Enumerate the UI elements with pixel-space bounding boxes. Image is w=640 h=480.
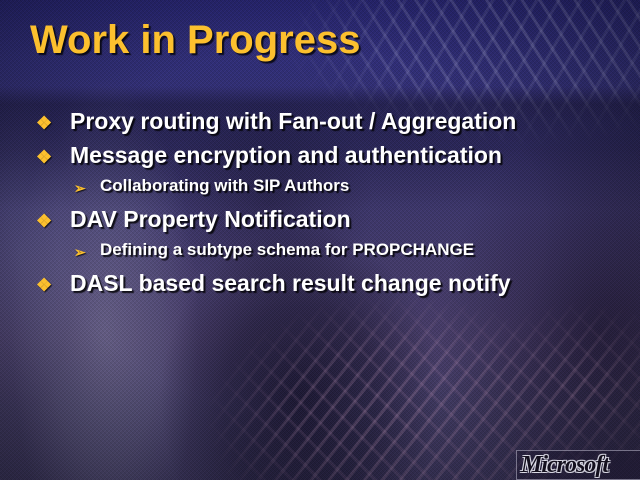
- bullet-diamond-cluster-icon: ❖: [36, 270, 70, 294]
- bullet-text: Message encryption and authentication: [70, 142, 502, 169]
- sub-bullet-text: Defining a subtype schema for PROPCHANGE: [100, 240, 474, 260]
- bullet-text: DASL based search result change notify: [70, 270, 511, 297]
- bullet-item: ❖ DAV Property Notification: [0, 206, 640, 240]
- bullet-diamond-cluster-icon: ❖: [36, 206, 70, 230]
- bullet-item: ❖ Proxy routing with Fan-out / Aggregati…: [0, 108, 640, 142]
- sub-bullet-text: Collaborating with SIP Authors: [100, 176, 349, 196]
- slide-title: Work in Progress: [30, 18, 360, 63]
- sub-bullet-item: ➢ Defining a subtype schema for PROPCHAN…: [0, 240, 640, 270]
- bullet-diamond-cluster-icon: ❖: [36, 142, 70, 166]
- sub-bullet-item: ➢ Collaborating with SIP Authors: [0, 176, 640, 206]
- bullet-arrow-icon: ➢: [74, 176, 100, 195]
- bullet-text: Proxy routing with Fan-out / Aggregation: [70, 108, 516, 135]
- bullet-diamond-cluster-icon: ❖: [36, 108, 70, 132]
- microsoft-logo-text: Microsoft: [521, 452, 608, 479]
- bullet-text: DAV Property Notification: [70, 206, 351, 233]
- bullet-item: ❖ DASL based search result change notify: [0, 270, 640, 304]
- presentation-slide: Work in Progress ❖ Proxy routing with Fa…: [0, 0, 640, 480]
- bullet-item: ❖ Message encryption and authentication: [0, 142, 640, 176]
- slide-bullet-list: ❖ Proxy routing with Fan-out / Aggregati…: [0, 108, 640, 304]
- bullet-arrow-icon: ➢: [74, 240, 100, 259]
- microsoft-logo: Microsoft: [516, 450, 640, 480]
